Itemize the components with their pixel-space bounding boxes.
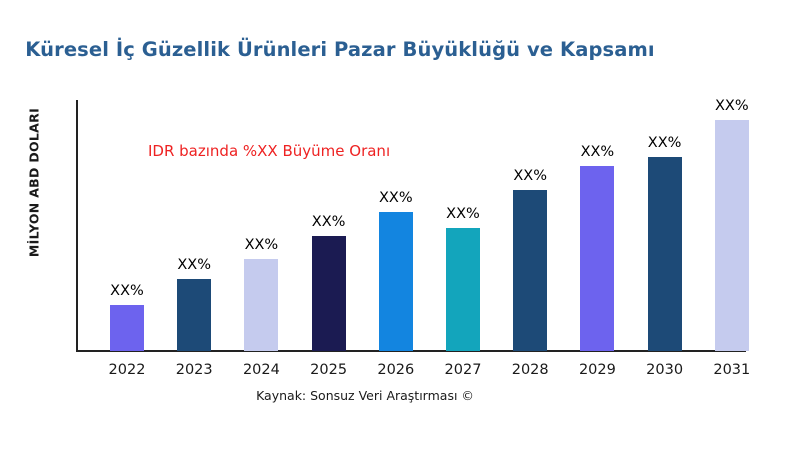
bar[interactable] — [244, 259, 278, 351]
bar-value-label: XX% — [513, 168, 547, 184]
plot-area: XX%2022XX%2023XX%2024XX%2025XX%2026XX%20… — [0, 0, 800, 450]
x-axis-tick-label: 2023 — [176, 362, 213, 378]
bar[interactable] — [312, 236, 346, 351]
bar[interactable] — [715, 120, 749, 351]
bar-group[interactable]: XX%2027 — [446, 228, 480, 351]
bar[interactable] — [379, 212, 413, 351]
x-axis-tick-label: 2027 — [445, 362, 482, 378]
growth-rate-annotation: IDR bazında %XX Büyüme Oranı — [148, 142, 390, 160]
bar-value-label: XX% — [581, 144, 615, 160]
bar-value-label: XX% — [312, 214, 346, 230]
bar-value-label: XX% — [715, 98, 749, 114]
bar-group[interactable]: XX%2024 — [244, 259, 278, 351]
bar-group[interactable]: XX%2023 — [177, 279, 211, 351]
y-axis-line — [76, 100, 78, 351]
bar-value-label: XX% — [177, 257, 211, 273]
bar-value-label: XX% — [446, 206, 480, 222]
bar-group[interactable]: XX%2030 — [648, 157, 682, 351]
bar-group[interactable]: XX%2026 — [379, 212, 413, 351]
bar-group[interactable]: XX%2025 — [312, 236, 346, 351]
x-axis-tick-label: 2025 — [310, 362, 347, 378]
bar[interactable] — [513, 190, 547, 351]
x-axis-tick-label: 2028 — [512, 362, 549, 378]
x-axis-tick-label: 2024 — [243, 362, 280, 378]
bar-group[interactable]: XX%2031 — [715, 120, 749, 351]
bar-group[interactable]: XX%2022 — [110, 305, 144, 351]
bar-value-label: XX% — [648, 135, 682, 151]
source-note: Kaynak: Sonsuz Veri Araştırması © — [0, 388, 730, 403]
x-axis-tick-label: 2029 — [579, 362, 616, 378]
x-axis-tick-label: 2030 — [646, 362, 683, 378]
x-axis-tick-label: 2022 — [109, 362, 146, 378]
bar[interactable] — [110, 305, 144, 351]
bar-value-label: XX% — [379, 190, 413, 206]
bar-value-label: XX% — [245, 237, 279, 253]
chart-page: Küresel İç Güzellik Ürünleri Pazar Büyük… — [0, 0, 800, 450]
x-axis-tick-label: 2031 — [713, 362, 750, 378]
bar[interactable] — [648, 157, 682, 351]
bar-group[interactable]: XX%2028 — [513, 190, 547, 351]
bar-value-label: XX% — [110, 283, 144, 299]
bar[interactable] — [177, 279, 211, 351]
x-axis-tick-label: 2026 — [377, 362, 414, 378]
bar[interactable] — [446, 228, 480, 351]
bar-group[interactable]: XX%2029 — [580, 166, 614, 351]
bar[interactable] — [580, 166, 614, 351]
